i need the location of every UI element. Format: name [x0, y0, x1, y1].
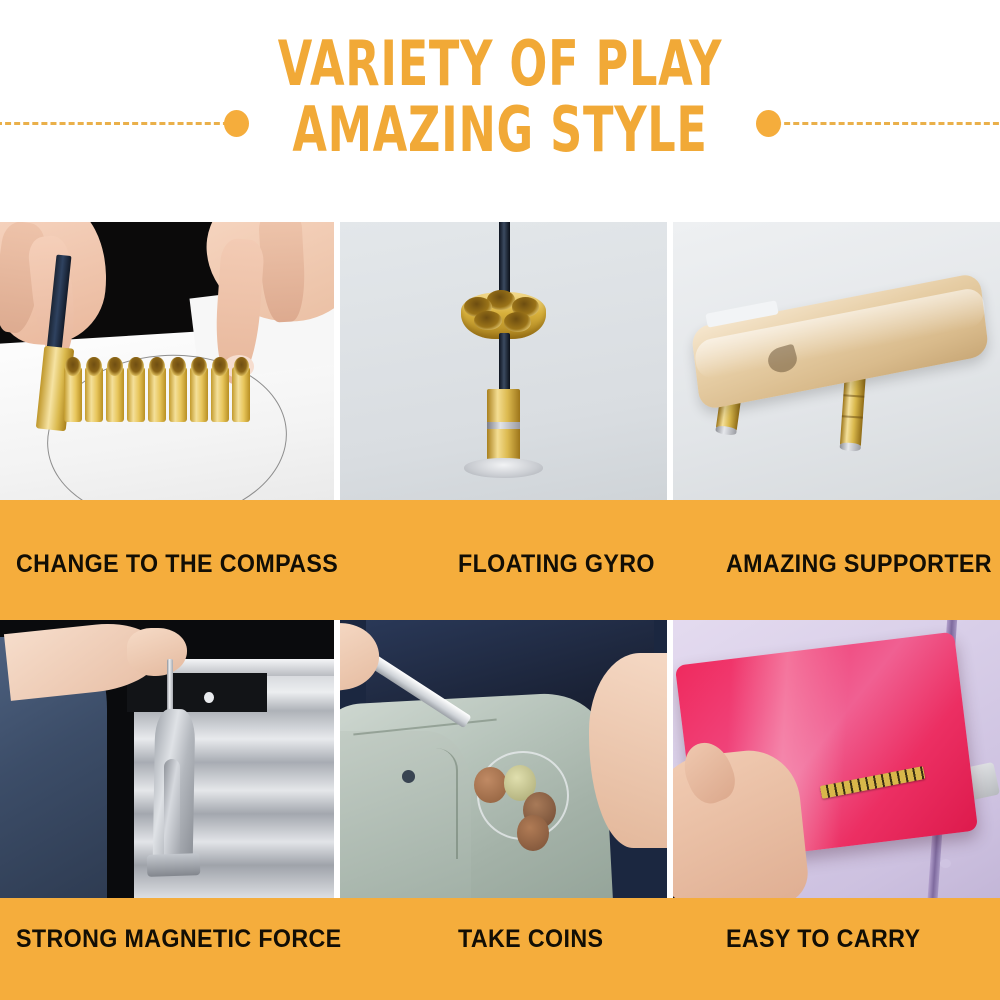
page-title: VARIETY OF PLAY AMAZING STYLE [0, 32, 1000, 162]
caption-cell-5: TAKE COINS [390, 898, 690, 1000]
caption-cell-4: STRONG MAGNETIC FORCE [0, 898, 390, 1000]
caption-cell-6: EASY TO CARRY [690, 898, 1000, 1000]
title-line-1: VARIETY OF PLAY [140, 32, 860, 96]
caption-cell-1: CHANGE TO THE COMPASS [0, 500, 390, 620]
jeans-pocket [347, 748, 458, 859]
coin [517, 815, 550, 851]
caption-bar-top: CHANGE TO THE COMPASS FLOATING GYRO AMAZ… [0, 500, 1000, 620]
magnet-chain [50, 367, 284, 423]
photo-easy-carry-image [673, 620, 1000, 898]
photo-compass-image [0, 222, 334, 500]
photo-magnetic-force-image [0, 620, 334, 898]
caption-cell-3: AMAZING SUPPORTER [690, 500, 1000, 620]
shirt-button-icon [940, 859, 951, 868]
promo-graphic: VARIETY OF PLAY AMAZING STYLE [0, 0, 1000, 1000]
title-line-2: AMAZING STYLE [140, 98, 860, 162]
photo-row-bottom [0, 620, 1000, 898]
photo-panel-magnetic-force [0, 620, 334, 898]
photo-gyro-image [340, 222, 667, 500]
photo-panel-gyro [340, 222, 667, 500]
photo-panel-take-coins [340, 620, 667, 898]
photo-panel-easy-carry [673, 620, 1000, 898]
caption-magnetic-force: STRONG MAGNETIC FORCE [16, 925, 342, 954]
coin [474, 767, 507, 803]
photo-take-coins-image [340, 620, 667, 898]
caption-bar-bottom: STRONG MAGNETIC FORCE TAKE COINS EASY TO… [0, 898, 1000, 1000]
photo-supporter-image [673, 222, 1000, 500]
caption-cell-2: FLOATING GYRO [390, 500, 690, 620]
caption-gyro: FLOATING GYRO [458, 550, 655, 579]
caption-take-coins: TAKE COINS [458, 925, 603, 954]
caption-compass: CHANGE TO THE COMPASS [16, 550, 338, 579]
jeans-button-icon [402, 770, 415, 783]
caption-easy-carry: EASY TO CARRY [726, 925, 920, 954]
photo-row-top [0, 222, 1000, 500]
photo-panel-compass [0, 222, 334, 500]
photo-panel-supporter [673, 222, 1000, 500]
coin-base [464, 458, 542, 477]
caption-supporter: AMAZING SUPPORTER [726, 550, 992, 579]
person-hand [127, 628, 187, 675]
header-banner: VARIETY OF PLAY AMAZING STYLE [0, 0, 1000, 222]
